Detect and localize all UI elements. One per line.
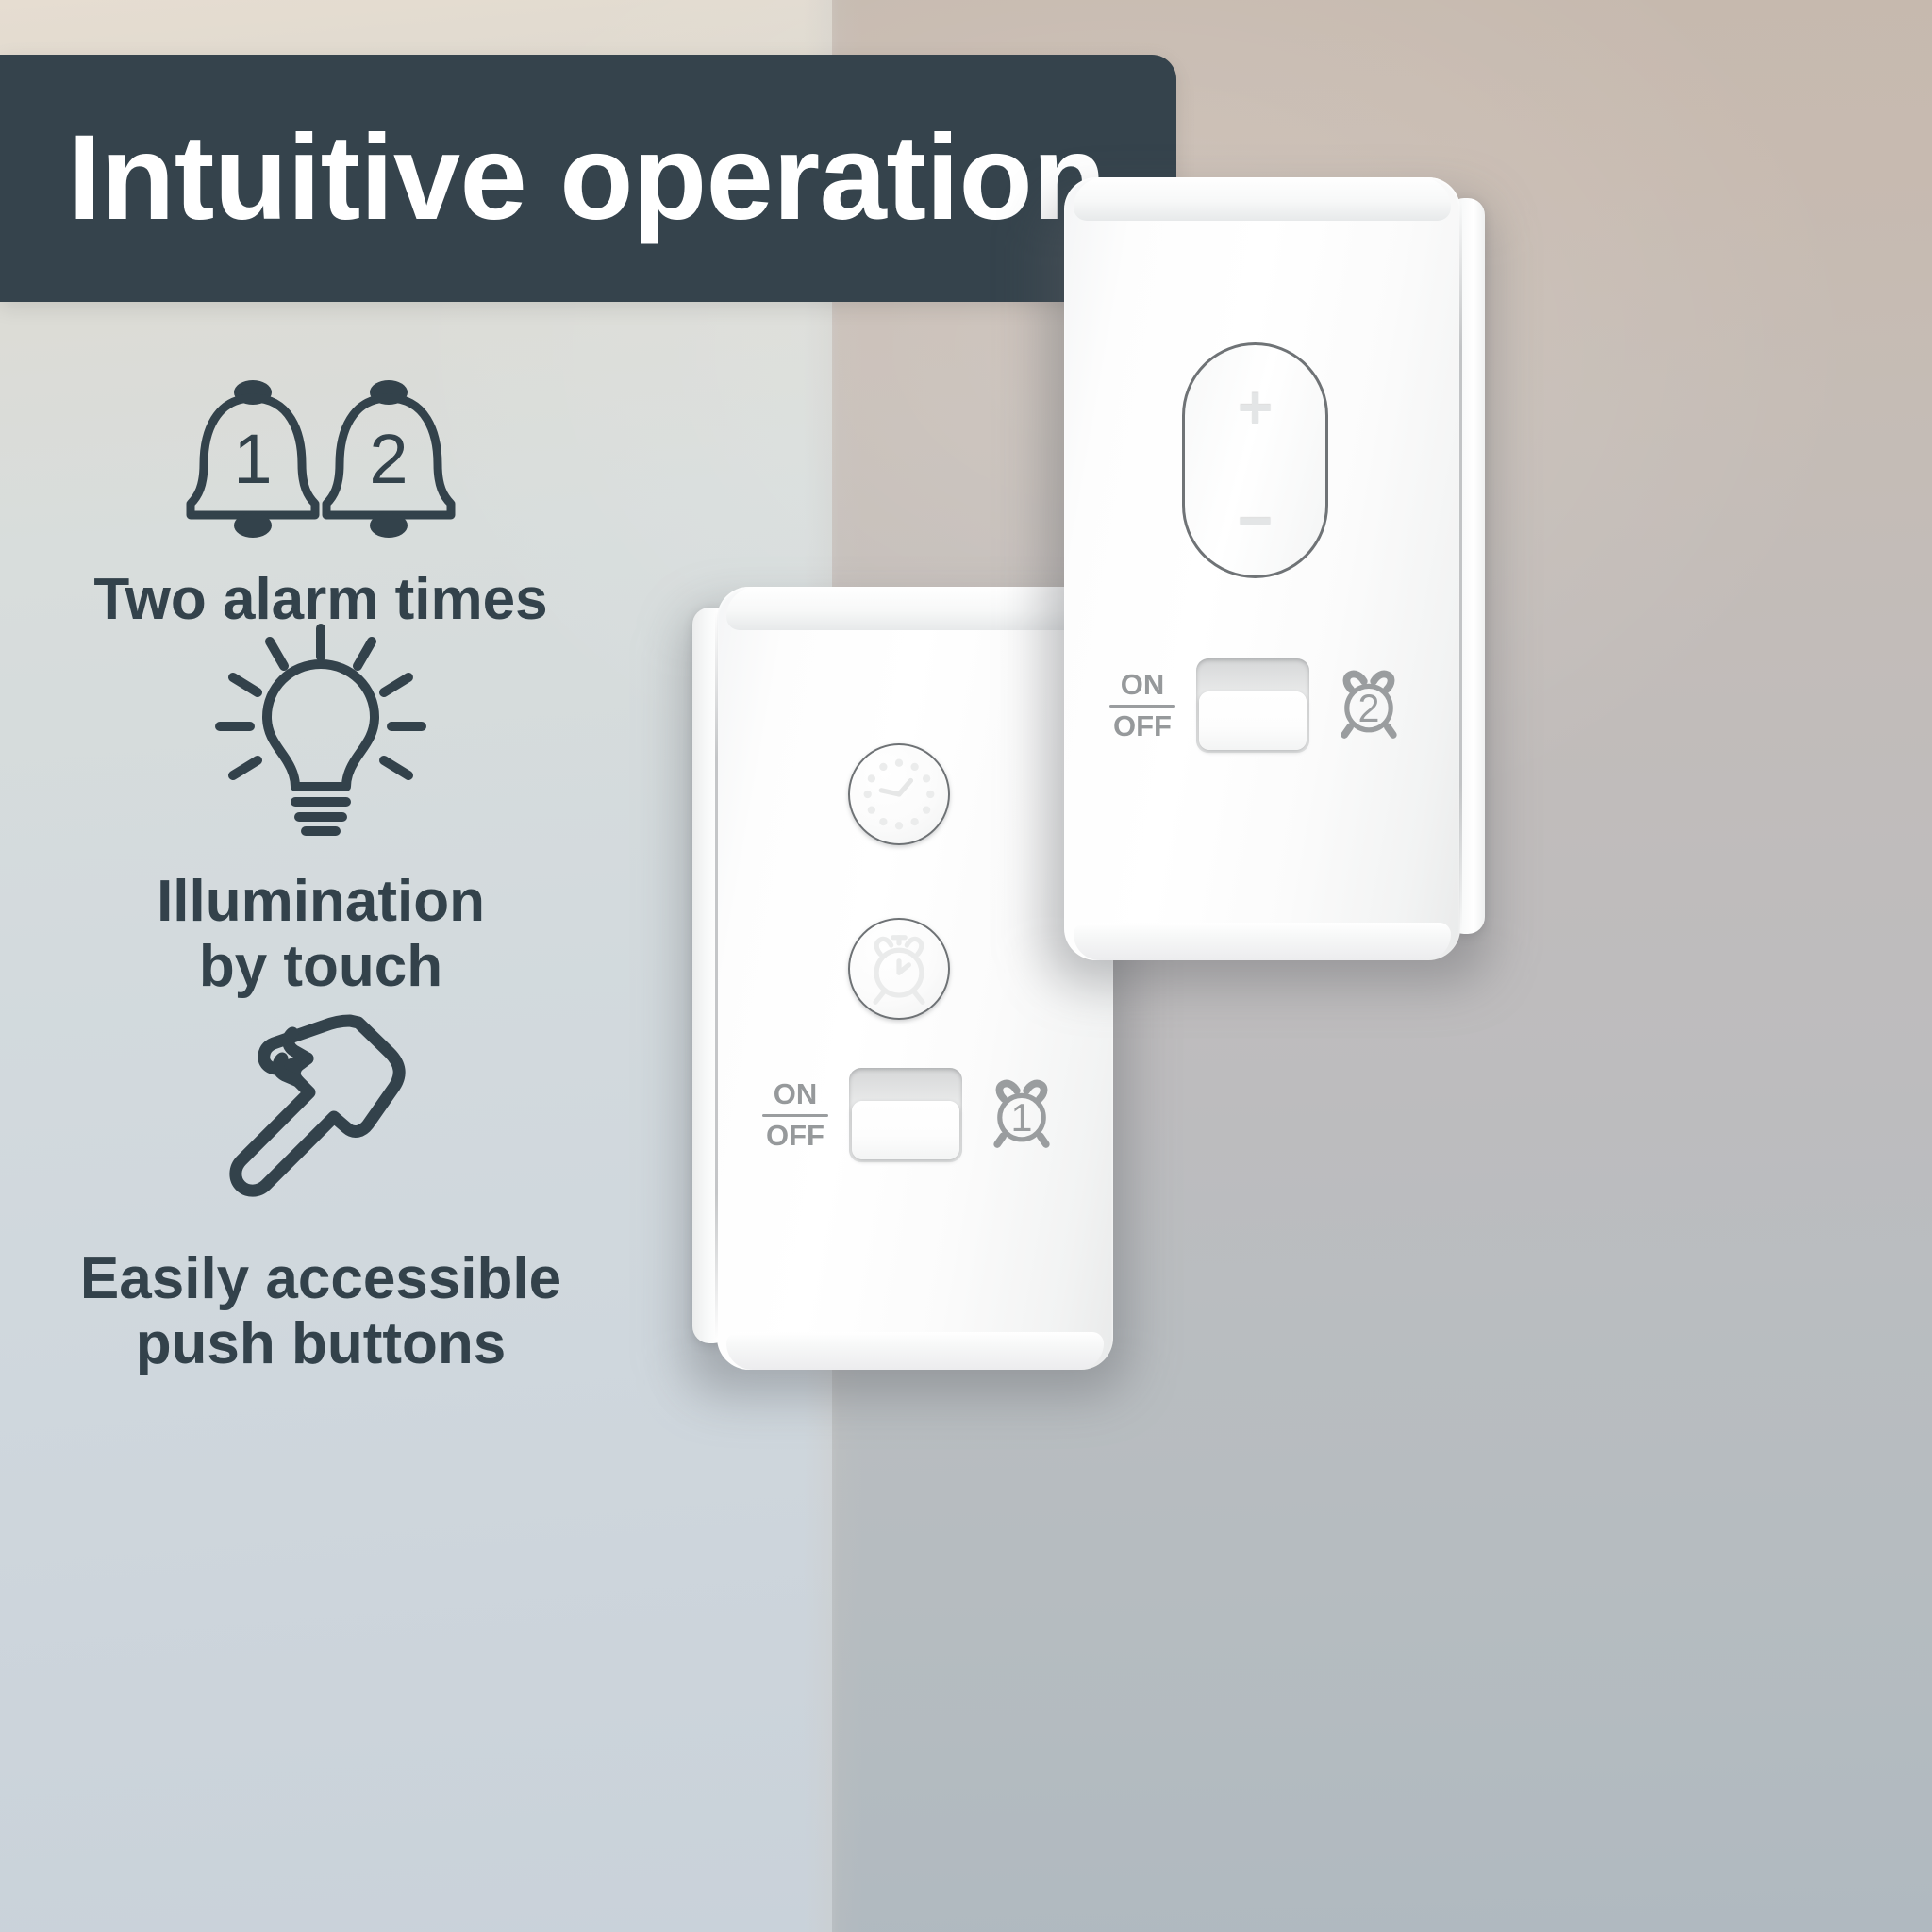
plus-minus-rocker-button[interactable]: + −	[1182, 342, 1328, 578]
on-off-divider	[762, 1114, 828, 1117]
device-bottom-bevel	[1074, 923, 1451, 960]
alarm-clock-button[interactable]	[848, 918, 950, 1020]
device-top-bevel	[1074, 177, 1451, 221]
title-banner: Intuitive operation	[0, 55, 1176, 302]
device-bottom-bevel	[726, 1332, 1104, 1370]
feature-label: Easily accessible push buttons	[80, 1246, 561, 1377]
on-label: ON	[1121, 669, 1165, 702]
alarm-indicator-2: 2	[1328, 665, 1409, 746]
alarm-slider-switch-1[interactable]	[849, 1068, 962, 1162]
lightbulb-icon	[212, 623, 429, 844]
on-off-label: ON OFF	[1109, 669, 1175, 742]
clock-face-icon	[850, 745, 948, 843]
feature-two-alarm-times: 1 2 Two alarm times	[0, 377, 641, 632]
alarm-number: 1	[1011, 1096, 1033, 1140]
on-label: ON	[774, 1078, 818, 1111]
alarm-slider-switch-2[interactable]	[1196, 658, 1309, 753]
feature-illumination-by-touch: Illumination by touch	[0, 623, 641, 1000]
alarm-clock-icon: 1	[981, 1074, 1062, 1156]
off-label: OFF	[1113, 710, 1172, 743]
slider-knob[interactable]	[1199, 691, 1307, 750]
minus-icon[interactable]: −	[1238, 491, 1273, 551]
alarm-indicator-1: 1	[981, 1074, 1062, 1156]
bell-badge-1: 1	[233, 420, 272, 498]
feature-label: Illumination by touch	[157, 869, 485, 1000]
clock-face-button[interactable]	[848, 743, 950, 845]
feature-push-buttons: Easily accessible push buttons	[0, 1009, 641, 1377]
slider-knob[interactable]	[852, 1101, 959, 1159]
product-feature-graphic: Intuitive operation 1	[0, 0, 1932, 1932]
on-off-label: ON OFF	[762, 1078, 828, 1152]
plus-icon[interactable]: +	[1238, 377, 1273, 438]
device-rail-seam	[715, 611, 718, 1340]
alarm-number: 2	[1358, 687, 1380, 730]
pointing-hand-icon	[217, 1009, 425, 1222]
page-title: Intuitive operation	[68, 118, 1106, 239]
alarm-switch-row-1[interactable]: ON OFF 1	[762, 1058, 1074, 1172]
two-bells-icon: 1 2	[179, 377, 462, 542]
alarm-clock-icon	[850, 920, 948, 1018]
bell-badge-2: 2	[369, 420, 408, 498]
off-label: OFF	[766, 1120, 824, 1153]
alarm-module-2[interactable]: + − ON OFF	[1064, 177, 1460, 960]
alarm-clock-icon: 2	[1328, 665, 1409, 746]
on-off-divider	[1109, 705, 1175, 708]
alarm-switch-row-2[interactable]: ON OFF 2	[1109, 649, 1421, 762]
device-rail-seam	[1459, 202, 1462, 930]
